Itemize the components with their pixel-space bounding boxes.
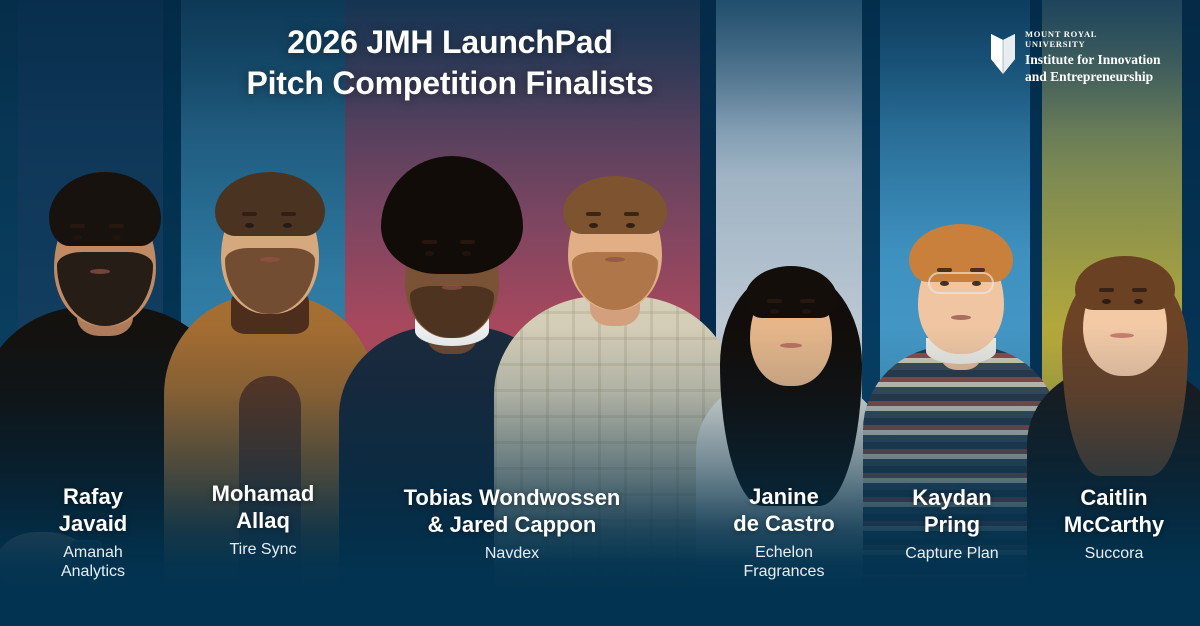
finalist-5: Kaydan Pring Capture Plan [874, 485, 1030, 564]
finalist-company: Amanah Analytics [18, 544, 168, 582]
finalist-4: Janine de Castro Echelon Fragrances [706, 484, 862, 582]
finalist-company: Tire Sync [182, 541, 344, 560]
title-line-2: Pitch Competition Finalists [0, 63, 900, 104]
finalist-name: Kaydan Pring [874, 485, 1030, 538]
finalist-name: Tobias Wondwossen & Jared Cappon [350, 485, 674, 538]
finalist-name: Mohamad Allaq [182, 481, 344, 534]
finalist-company: Capture Plan [874, 545, 1030, 564]
finalist-2: Mohamad Allaq Tire Sync [182, 481, 344, 560]
eyeglasses-icon [928, 272, 994, 294]
poster-graphic: 2026 JMH LaunchPad Pitch Competition Fin… [0, 0, 1200, 626]
finalist-name: Janine de Castro [706, 484, 862, 537]
finalist-company: Echelon Fragrances [706, 544, 862, 582]
finalist-name: Rafay Javaid [18, 484, 168, 537]
mru-institute-logo: MOUNT ROYAL UNIVERSITY Institute for Inn… [990, 30, 1161, 85]
logo-institution-line-2: UNIVERSITY [1025, 40, 1161, 50]
finalist-3: Tobias Wondwossen & Jared Cappon Navdex [350, 485, 674, 564]
logo-wordmark: MOUNT ROYAL UNIVERSITY Institute for Inn… [1025, 30, 1161, 85]
logo-name-line-1: Institute for Innovation [1025, 52, 1161, 68]
finalist-1: Rafay Javaid Amanah Analytics [18, 484, 168, 582]
finalist-name: Caitlin McCarthy [1038, 485, 1190, 538]
title-line-1: 2026 JMH LaunchPad [0, 22, 900, 63]
finalist-captions: Rafay Javaid Amanah Analytics Mohamad Al… [0, 466, 1200, 626]
logo-name-line-2: and Entrepreneurship [1025, 69, 1161, 85]
finalist-company: Succora [1038, 545, 1190, 564]
finalist-6: Caitlin McCarthy Succora [1038, 485, 1190, 564]
mru-shield-icon [990, 33, 1016, 80]
finalist-company: Navdex [350, 545, 674, 564]
